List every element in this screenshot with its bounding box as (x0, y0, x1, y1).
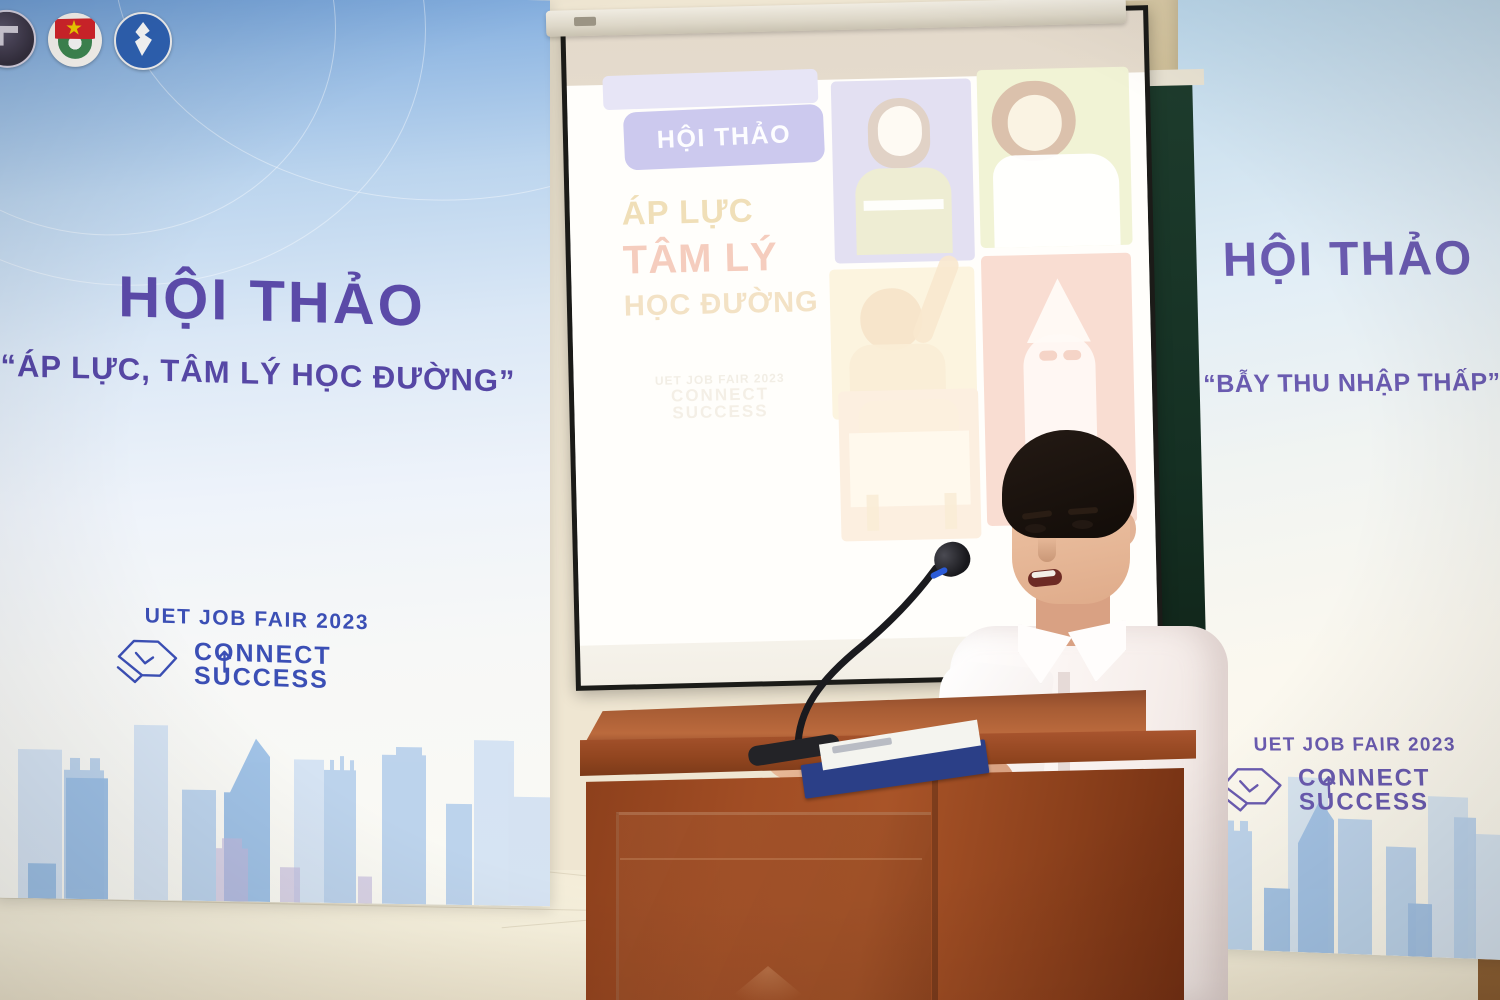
jobfair-slogan-left-2: SUCCESS (194, 664, 332, 693)
uet-vnu-seal-icon (0, 9, 36, 68)
illustration-card-2 (976, 67, 1132, 249)
lectern-corner-edge (932, 762, 938, 1000)
microphone-gooseneck (790, 560, 970, 750)
roller-bracket (574, 17, 596, 27)
jobfair-logo-right: UET JOB FAIR 2023 CONNECT SUCCE (1214, 734, 1497, 819)
jobfair-title-left: UET JOB FAIR 2023 (112, 603, 402, 636)
slide-accent-bar (602, 69, 818, 110)
banner-left: HỘI THẢO “ÁP LỰC, TÂM LÝ HỌC ĐƯỜNG” UET … (0, 0, 550, 906)
slide-footer: UET JOB FAIR 2023 CONNECT SUCCESS (620, 370, 821, 423)
eye-left (1025, 524, 1046, 533)
organization-logos (0, 9, 172, 70)
up-arrow-icon (217, 649, 232, 673)
banner-right-title: HỘI THẢO (1178, 231, 1500, 288)
illustration-card-1 (831, 78, 975, 263)
slide-line-2: TÂM LÝ (622, 235, 778, 284)
jobfair-slogan-right-2: SUCCESS (1299, 790, 1432, 814)
slide-line-3: HỌC ĐƯỜNG (624, 286, 819, 324)
ho-chi-minh-youth-union-emblem-icon (48, 12, 102, 67)
slide-badge: HỘI THẢO (623, 104, 825, 171)
jobfair-slogan-right-2-text: SUCCESS (1298, 788, 1429, 815)
jobfair-logo-left: UET JOB FAIR 2023 CONNECT SUCCE (112, 603, 402, 699)
jobfair-slogan-left-2-text: SUCCESS (194, 662, 329, 694)
eye-right (1072, 520, 1093, 529)
slide-line-1: ÁP LỰC (621, 192, 754, 233)
handshake-icon (112, 632, 186, 692)
vietnam-students-association-emblem-icon (114, 12, 172, 71)
jobfair-slogan-right-1: CONNECT (1298, 767, 1431, 791)
banner-left-subtitle: “ÁP LỰC, TÂM LÝ HỌC ĐƯỜNG” (0, 347, 548, 401)
nose (1038, 536, 1056, 562)
banner-left-title: HỘI THẢO (0, 259, 550, 343)
banner-right-subtitle: “BẪY THU NHẬP THẤP” (1178, 368, 1500, 399)
city-skyline-graphic (0, 693, 550, 907)
jobfair-title-right: UET JOB FAIR 2023 (1214, 734, 1495, 756)
up-arrow-icon-right (1321, 774, 1337, 798)
photo-scene: HỘI THẢO ÁP LỰC TÂM LÝ HỌC ĐƯỜNG UET JOB… (0, 0, 1500, 1000)
slide-badge-label: HỘI THẢO (656, 120, 791, 155)
hair (1002, 430, 1134, 538)
slide-footer-slogan: CONNECT SUCCESS (620, 384, 821, 423)
